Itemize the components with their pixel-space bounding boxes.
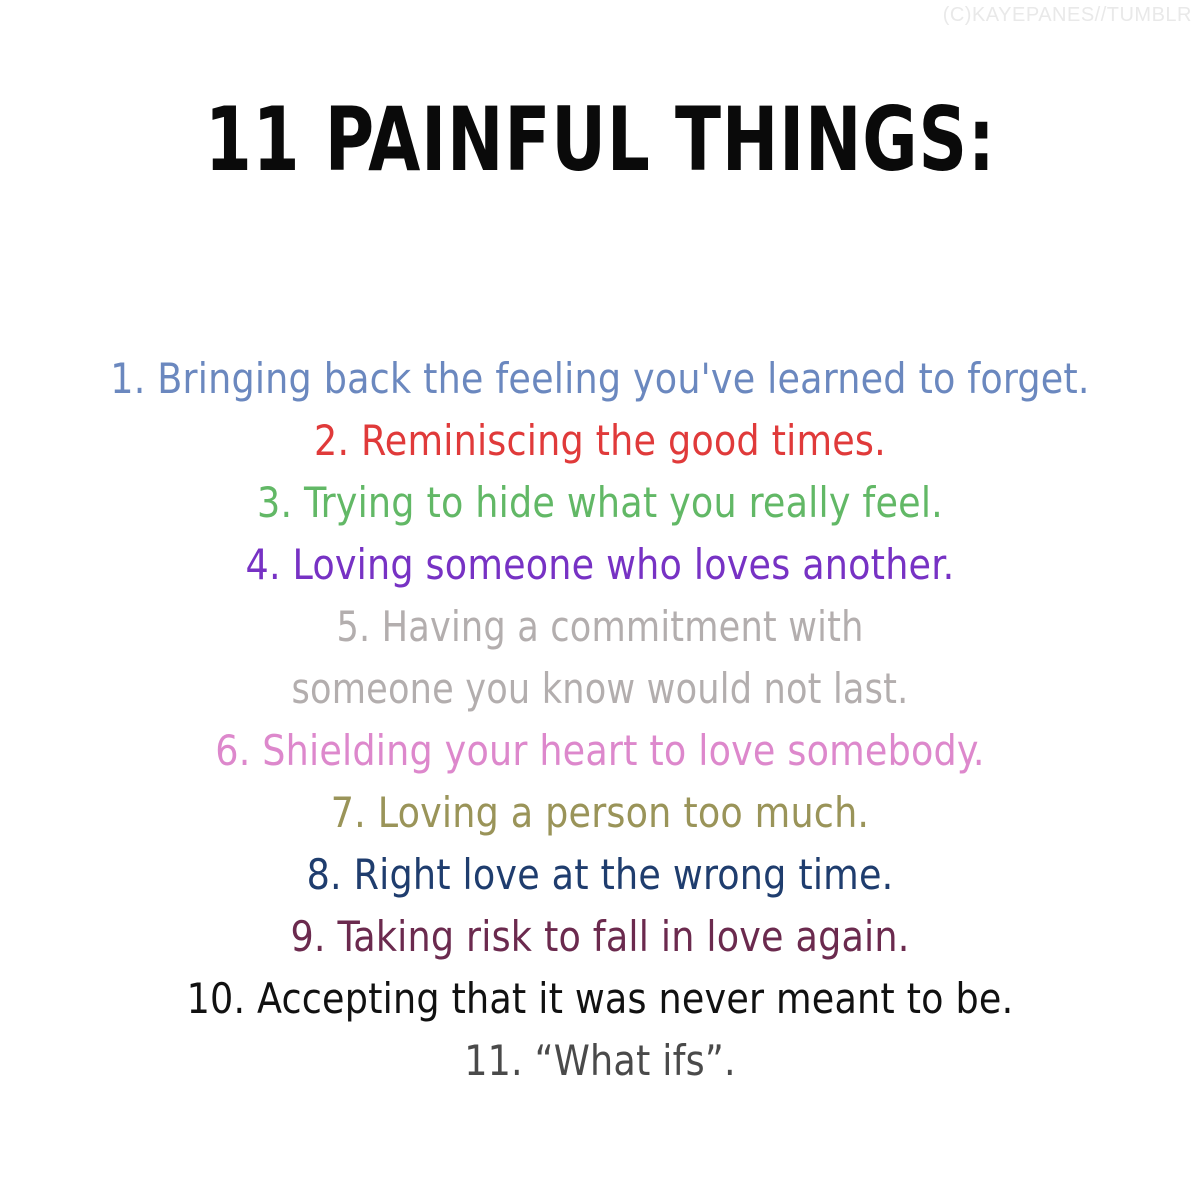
- list-item: 7. Loving a person too much.: [20, 782, 1180, 844]
- list-item: 8. Right love at the wrong time.: [20, 844, 1180, 906]
- list-item: 5. Having a commitment with someone you …: [42, 596, 1158, 720]
- painful-things-list: 1. Bringing back the feeling you've lear…: [0, 348, 1200, 1092]
- list-item: 9. Taking risk to fall in love again.: [20, 906, 1180, 968]
- list-item: 6. Shielding your heart to love somebody…: [20, 720, 1180, 782]
- list-item: 2. Reminiscing the good times.: [20, 410, 1180, 472]
- list-item: 4. Loving someone who loves another.: [20, 534, 1180, 596]
- list-item: 10. Accepting that it was never meant to…: [20, 968, 1180, 1030]
- list-item: 3. Trying to hide what you really feel.: [20, 472, 1180, 534]
- page-title-container: 11 PAINFUL THINGS:: [0, 96, 1200, 184]
- list-item: 11. “What ifs”.: [20, 1030, 1180, 1092]
- page-title: 11 PAINFUL THINGS:: [205, 96, 996, 184]
- poster-canvas: (C)KAYEPANES//TUMBLR 11 PAINFUL THINGS: …: [0, 0, 1200, 1200]
- list-item: 1. Bringing back the feeling you've lear…: [20, 348, 1180, 410]
- watermark-credit: (C)KAYEPANES//TUMBLR: [943, 4, 1192, 27]
